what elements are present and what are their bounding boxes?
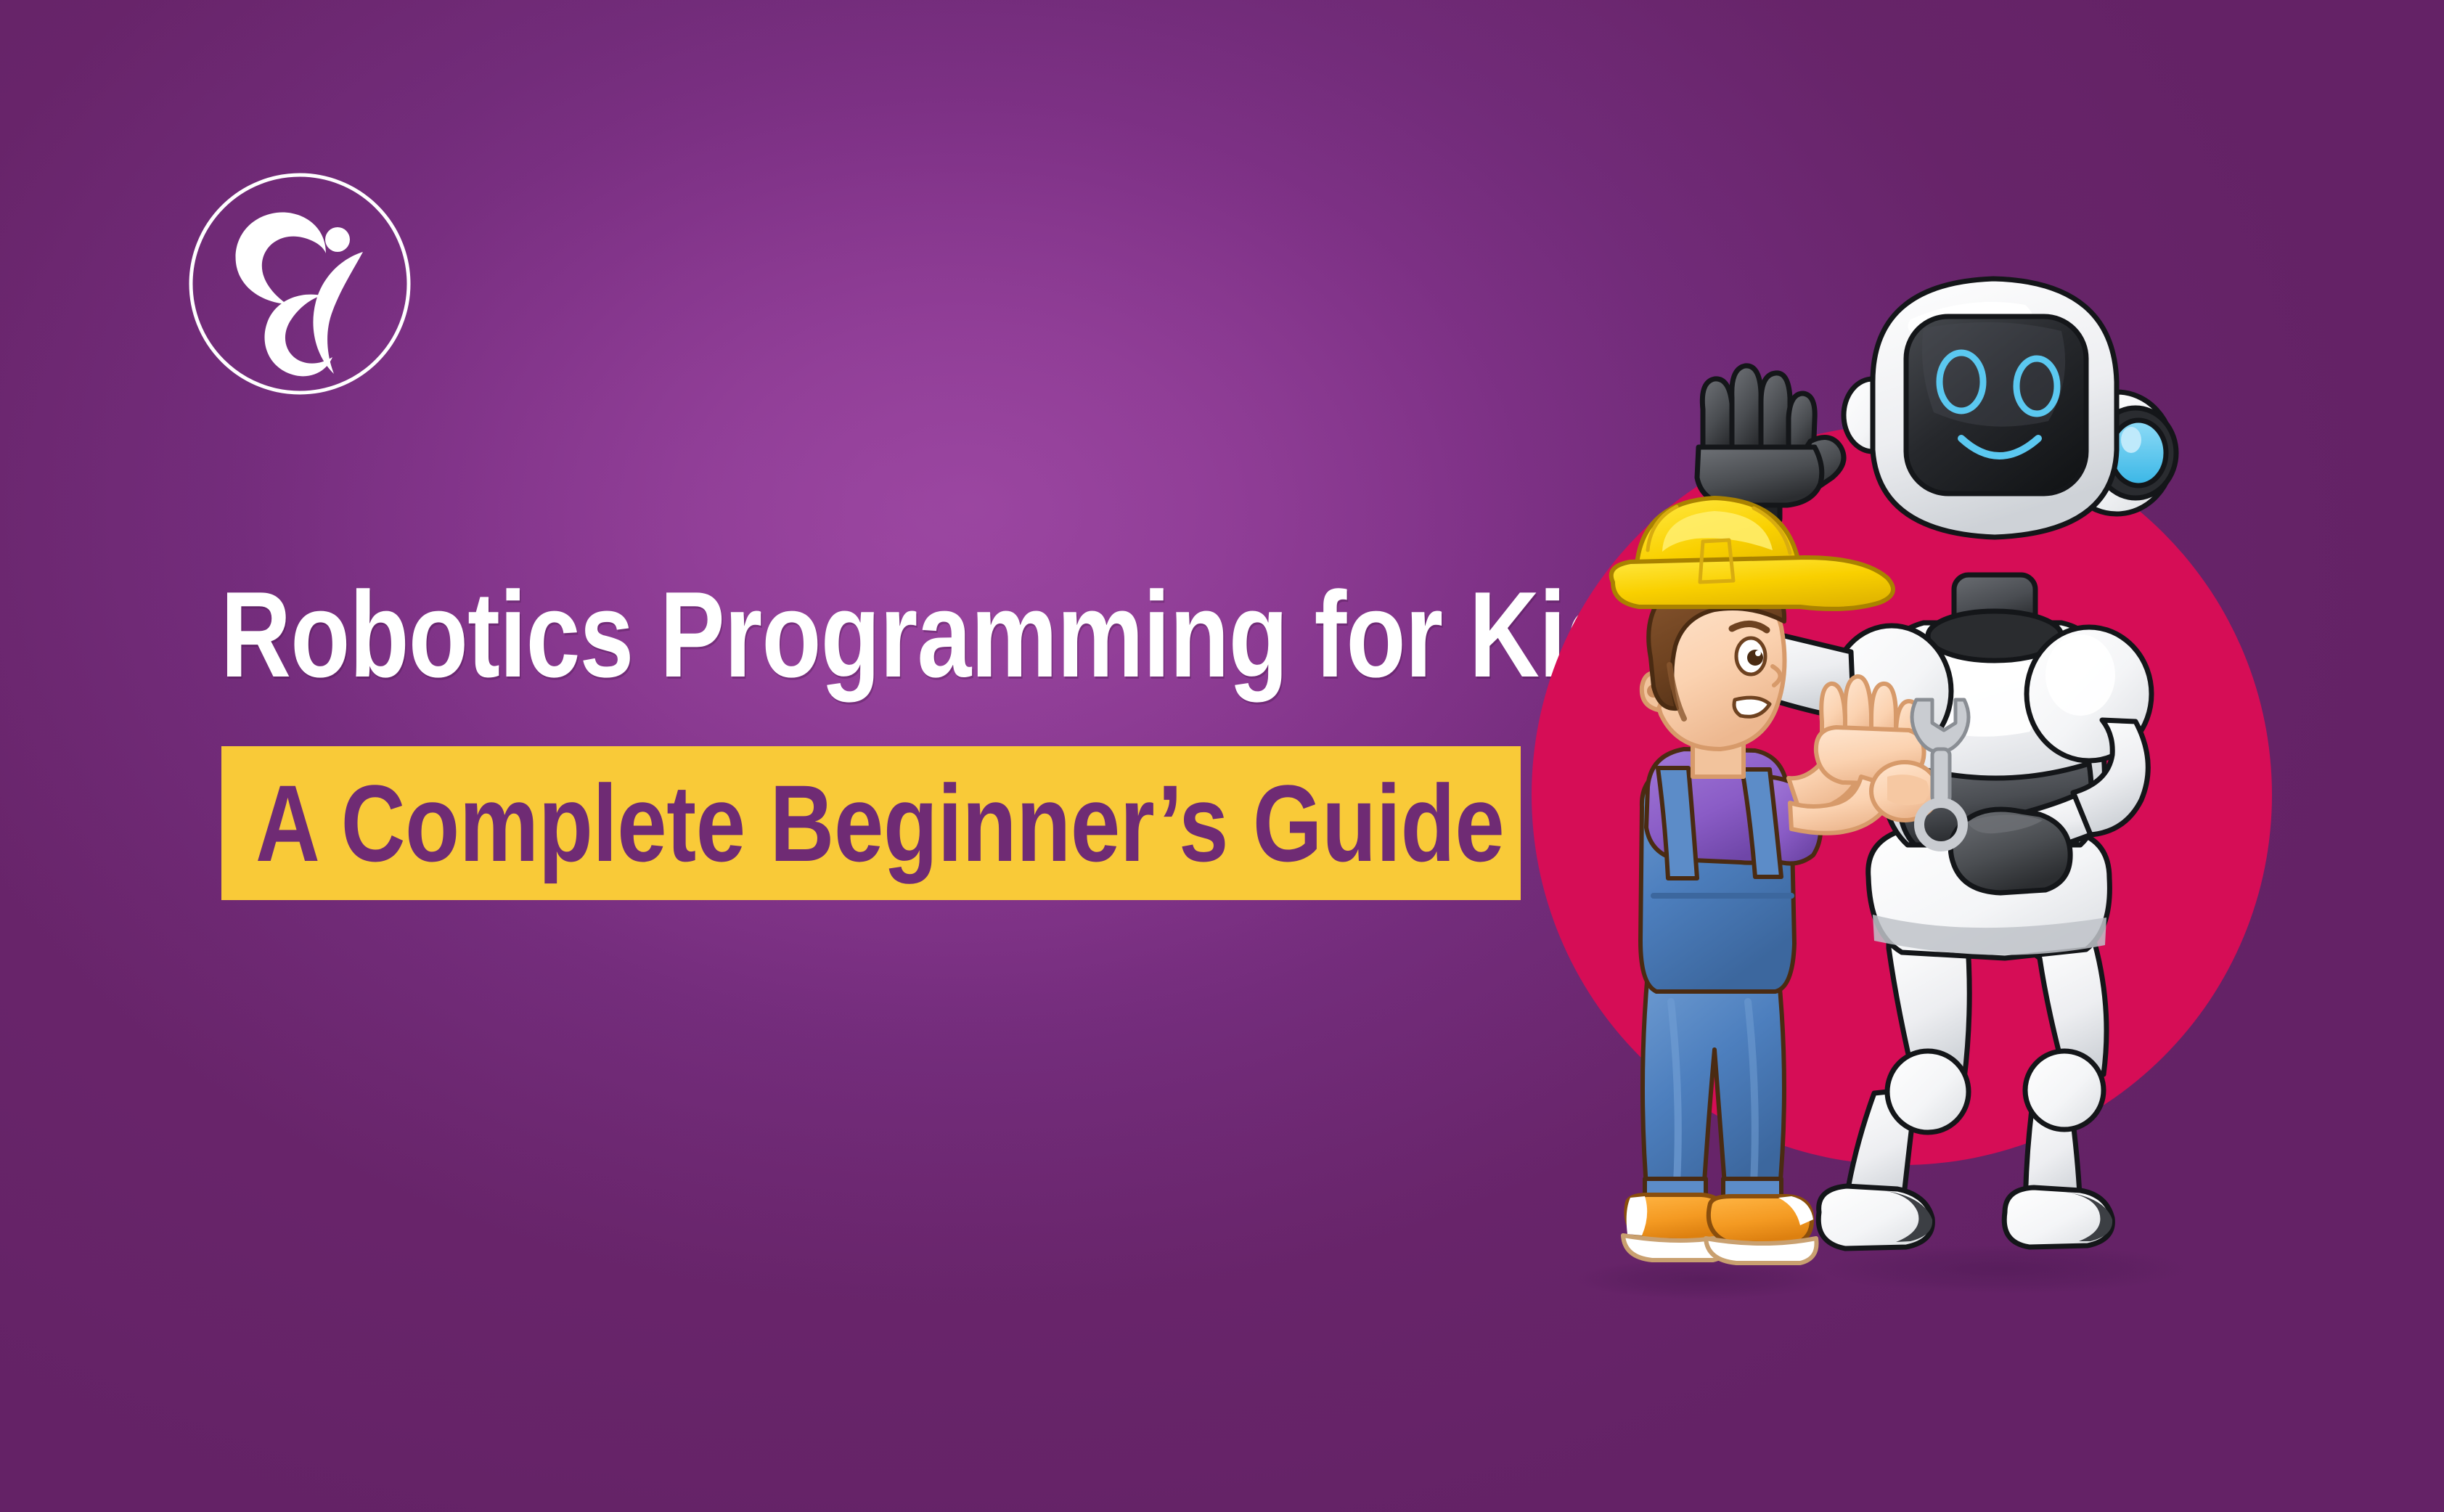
robot-knee-right (2025, 1051, 2104, 1129)
robot-ground-shadow (1822, 1244, 2185, 1294)
logo-ring (191, 175, 409, 393)
logo-butterfly-mark (236, 212, 363, 376)
brand-logo[interactable] (184, 168, 416, 400)
boy-and-robot-illustration (1561, 537, 2286, 1307)
banner-subtitle: A Complete Beginner’s Guide (256, 761, 1504, 886)
boy-jeans (1643, 973, 1784, 1204)
boy-shoe-right (1706, 1196, 1817, 1263)
robot-waving-glove (1697, 366, 1844, 505)
robot-knee-left (1887, 1051, 1969, 1132)
logo-head-dot (325, 227, 350, 252)
banner: Robotics Programming for Kids A Complete… (0, 0, 2444, 1512)
banner-title: Robotics Programming for Kids (221, 573, 1678, 695)
